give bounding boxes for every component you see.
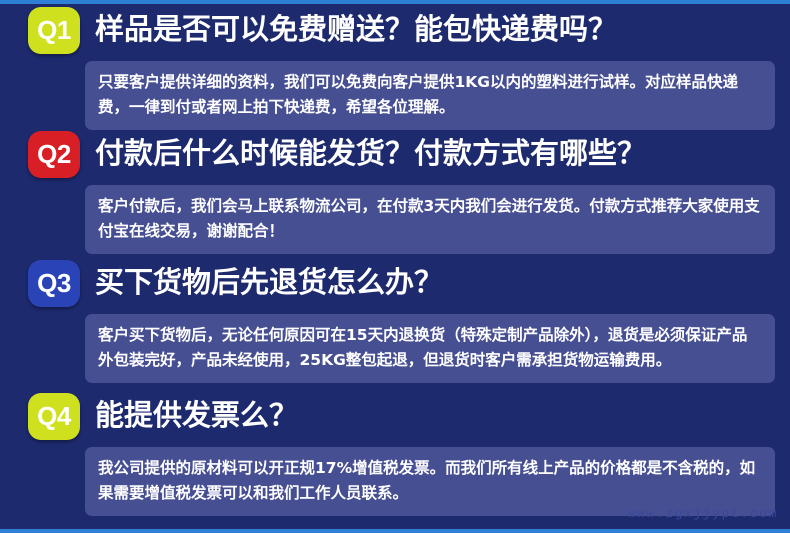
faq-page: Q1 样品是否可以免费赠送？能包快递费吗？ 只要客户提供详细的资料，我们可以免费…	[0, 0, 790, 533]
bottom-accent-rule	[0, 529, 790, 533]
answer-box-q3: 客户买下货物后，无论任何原因可在15天内退换货（特殊定制产品除外），退货是必须保…	[85, 314, 775, 383]
badge-q3: Q3	[28, 260, 80, 307]
faq-item-q1: Q1 样品是否可以免费赠送？能包快递费吗？ 只要客户提供详细的资料，我们可以免费…	[0, 4, 790, 56]
badge-q2: Q2	[28, 131, 80, 178]
answer-box-q2: 客户付款后，我们会马上联系物流公司，在付款3天内我们会进行发货。付款方式推荐大家…	[85, 185, 775, 254]
question-title-q3: 买下货物后先退货怎么办？	[95, 267, 443, 299]
faq-item-q3: Q3 买下货物后先退货怎么办？ 客户买下货物后，无论任何原因可在15天内退换货（…	[0, 257, 790, 309]
answer-box-q1: 只要客户提供详细的资料，我们可以免费向客户提供1KG以内的塑料进行试样。对应样品…	[85, 61, 775, 130]
question-title-q1: 样品是否可以免费赠送？能包快递费吗？	[95, 14, 617, 46]
site-watermark: www.zgxjjypt.com	[628, 506, 778, 521]
faq-question-row-q1: Q1 样品是否可以免费赠送？能包快递费吗？	[0, 4, 790, 56]
question-title-q4: 能提供发票么？	[95, 400, 298, 432]
faq-question-row-q2: Q2 付款后什么时候能发货？付款方式有哪些？	[0, 128, 790, 180]
faq-item-q4: Q4 能提供发票么？ 我公司提供的原材料可以开正规17%增值税发票。而我们所有线…	[0, 390, 790, 442]
badge-q4: Q4	[28, 393, 80, 440]
badge-q1: Q1	[28, 7, 80, 54]
faq-item-q2: Q2 付款后什么时候能发货？付款方式有哪些？ 客户付款后，我们会马上联系物流公司…	[0, 128, 790, 180]
faq-question-row-q3: Q3 买下货物后先退货怎么办？	[0, 257, 790, 309]
faq-question-row-q4: Q4 能提供发票么？	[0, 390, 790, 442]
question-title-q2: 付款后什么时候能发货？付款方式有哪些？	[95, 138, 646, 170]
